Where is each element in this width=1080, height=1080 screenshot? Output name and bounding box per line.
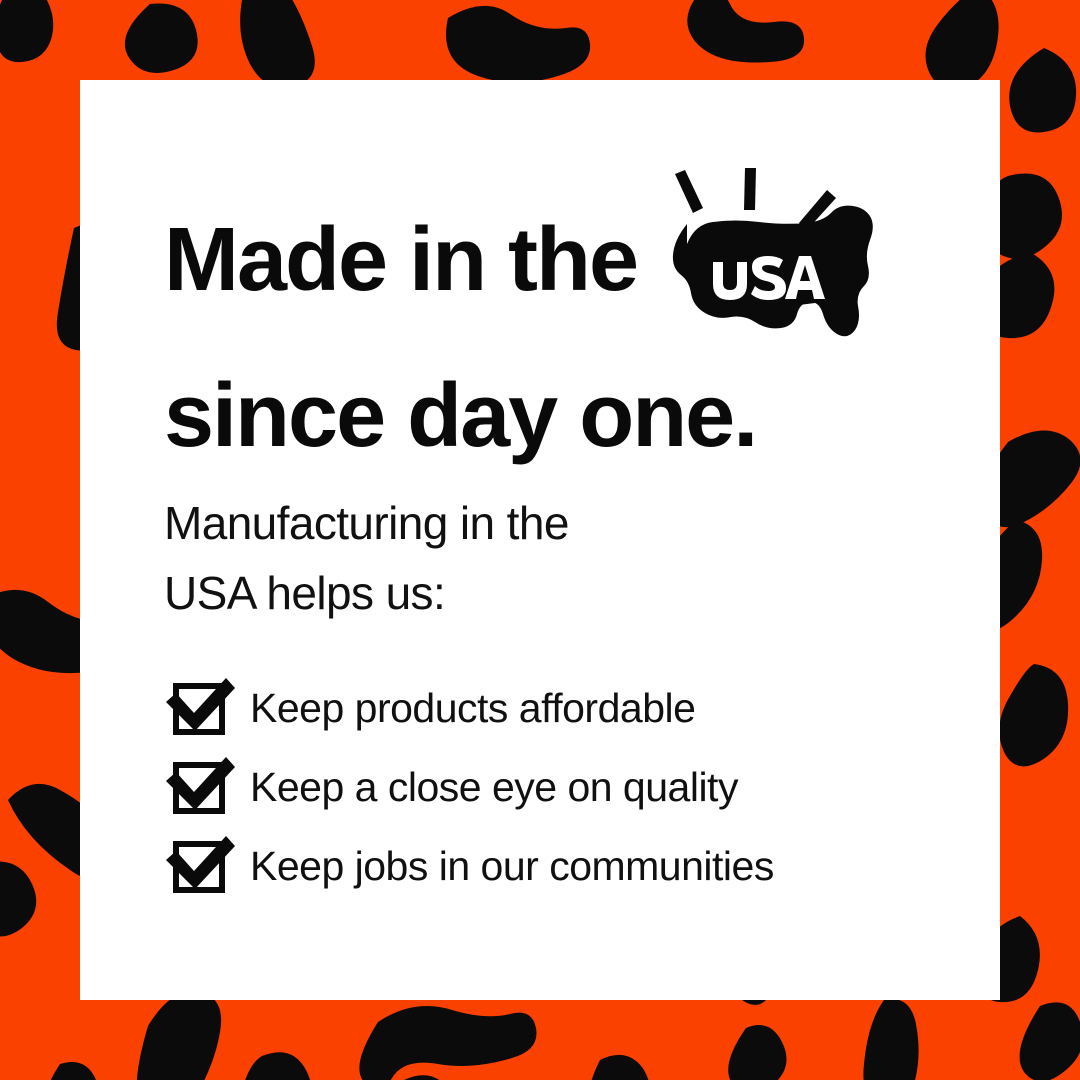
checked-checkbox-icon <box>164 676 236 740</box>
list-item-label: Keep jobs in our communities <box>250 842 774 890</box>
checked-checkbox-icon <box>164 755 236 819</box>
benefits-checklist: Keep products affordable Keep a close ey… <box>164 668 984 905</box>
content-card: Made in the <box>80 80 1000 1000</box>
poster-canvas: Made in the <box>0 0 1080 1080</box>
list-item: Keep products affordable <box>164 668 984 747</box>
list-item: Keep a close eye on quality <box>164 747 984 826</box>
list-item-label: Keep a close eye on quality <box>250 763 738 811</box>
subheading-line-1: Manufacturing in the <box>164 488 864 558</box>
headline-text-1: Made in the <box>164 210 637 310</box>
page-title: Made in the <box>164 166 964 480</box>
list-item: Keep jobs in our communities <box>164 826 984 905</box>
subheading-line-2: USA helps us: <box>164 558 864 628</box>
checked-checkbox-icon <box>164 834 236 898</box>
headline-line-2: since day one. <box>164 352 964 480</box>
list-item-label: Keep products affordable <box>250 684 695 732</box>
usa-map-icon <box>651 168 875 354</box>
subheading: Manufacturing in the USA helps us: <box>164 488 864 628</box>
headline-line-1: Made in the <box>164 166 964 352</box>
